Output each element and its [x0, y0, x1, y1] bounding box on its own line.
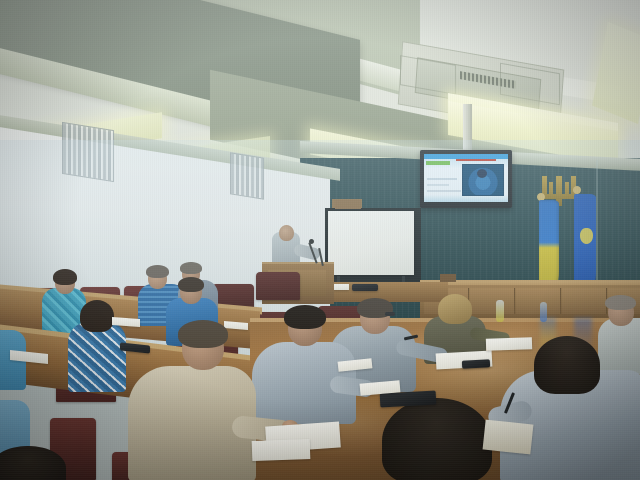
- person-hair: [382, 398, 492, 480]
- paper-sheet: [333, 284, 349, 290]
- tv-text-line: [427, 184, 449, 186]
- microphone-head: [309, 239, 314, 244]
- dais-panel: [562, 288, 607, 314]
- presenter-head: [279, 225, 294, 241]
- water-bottle: [496, 300, 504, 322]
- auditorium-seat: [256, 272, 300, 300]
- flagpole-finial: [573, 186, 581, 194]
- equipment-box: [352, 284, 378, 291]
- tv-text-line: [427, 178, 457, 180]
- notepad: [483, 420, 534, 455]
- tv-text-line: [427, 190, 461, 192]
- person-hair: [180, 262, 202, 274]
- person-hair: [284, 305, 326, 329]
- person-hair: [53, 269, 77, 285]
- wall-decor-panel: [62, 122, 114, 182]
- tv-screen-green-bar: [426, 161, 450, 165]
- dais-panel: [516, 288, 561, 314]
- person-hair: [178, 320, 228, 348]
- person-hair: [534, 336, 600, 394]
- glasses-icon: [385, 312, 395, 316]
- paper-sheet: [252, 439, 311, 461]
- person-hair: [438, 294, 472, 324]
- tablet-device: [462, 359, 490, 368]
- ledge-box: [335, 200, 361, 209]
- conference-hall-photo: ceiling-mounted flat screen monitor: [0, 0, 640, 480]
- water-bottle: [540, 302, 547, 322]
- ledge-box: [440, 274, 456, 282]
- wall-decor-panel: [230, 152, 264, 199]
- person-hair: [605, 295, 636, 310]
- person-hair: [178, 277, 204, 292]
- person-torso: [68, 322, 126, 392]
- paper-sheet: [486, 337, 532, 351]
- flag-regional-emblem-icon: [580, 228, 593, 244]
- whiteboard-surface[interactable]: [328, 211, 414, 275]
- flag-ukraine: [539, 200, 559, 292]
- person-hair: [146, 265, 169, 278]
- person-torso: [598, 318, 640, 374]
- dais-panel: [470, 288, 515, 314]
- thumbnail-person-head: [477, 169, 487, 178]
- tv-screen-red-line: [456, 159, 496, 161]
- person-hair: [80, 300, 114, 332]
